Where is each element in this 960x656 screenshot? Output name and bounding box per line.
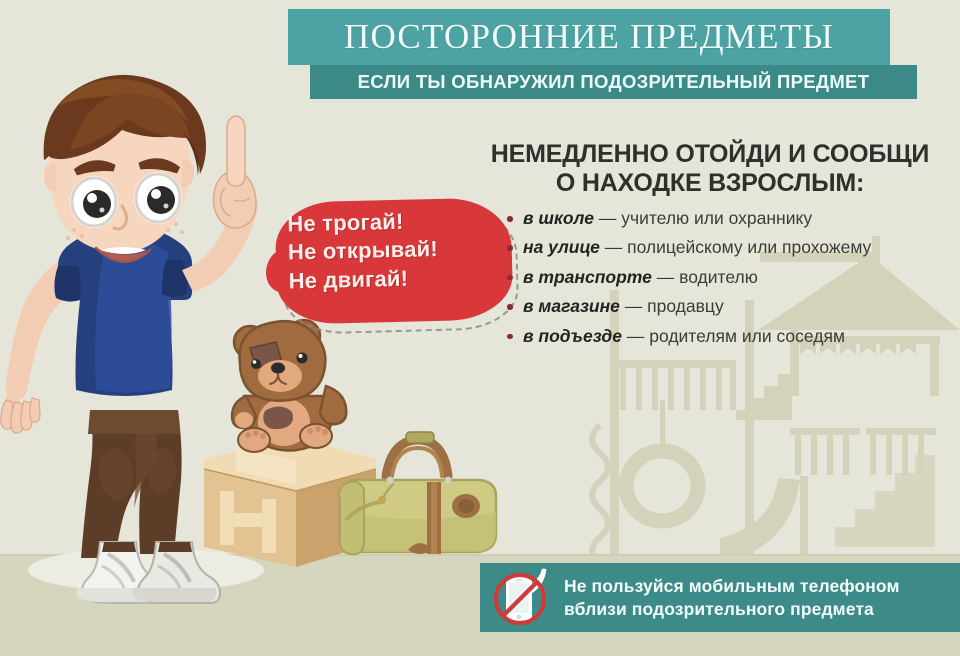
poster-title: ПОСТОРОННИЕ ПРЕДМЕТЫ: [288, 9, 890, 65]
advice-who: полицейскому или прохожему: [627, 237, 871, 257]
advice-term: в школе: [523, 208, 594, 228]
advice-term: в подъезде: [523, 326, 622, 346]
no-mobile-phone-icon: [488, 567, 564, 629]
warning-speech-bubble: Не трогай! Не открывай! Не двигай!: [276, 194, 526, 339]
list-item: на улице — полицейскому или прохожему: [505, 237, 955, 259]
bubble-line-3: Не двигай!: [288, 262, 505, 295]
advice-who: учителю или охраннику: [621, 208, 812, 228]
advice-dash: —: [627, 326, 645, 346]
advice-dash: —: [657, 267, 675, 287]
advice-dash: —: [625, 296, 643, 316]
list-item: в подъезде — родителям или соседям: [505, 326, 955, 348]
advice-dash: —: [605, 237, 623, 257]
banner-text: Не пользуйся мобильным телефоном вблизи …: [564, 575, 900, 620]
bullet-icon: [507, 334, 513, 340]
subtitle-band: ЕСЛИ ТЫ ОБНАРУЖИЛ ПОДОЗРИТЕЛЬНЫЙ ПРЕДМЕТ: [310, 65, 917, 99]
bullet-icon: [507, 304, 513, 310]
advice-list: в школе — учителю или охраннику на улице…: [505, 208, 955, 355]
bullet-icon: [507, 216, 513, 222]
advice-dash: —: [599, 208, 617, 228]
advice-term: на улице: [523, 237, 600, 257]
suspicious-duffel-bag-illustration: [330, 424, 505, 564]
banner-line-2: вблизи подозрительного предмета: [564, 598, 900, 620]
bubble-text: Не трогай! Не открывай! Не двигай!: [287, 206, 505, 296]
instruction-headline: НЕМЕДЛЕННО ОТОЙДИ И СООБЩИ О НАХОДКЕ ВЗР…: [470, 140, 950, 198]
poster-root: ПОСТОРОННИЕ ПРЕДМЕТЫ ЕСЛИ ТЫ ОБНАРУЖИЛ П…: [0, 0, 960, 656]
title-band: ПОСТОРОННИЕ ПРЕДМЕТЫ: [288, 9, 890, 65]
list-item: в магазине — продавцу: [505, 296, 955, 318]
bullet-icon: [507, 245, 513, 251]
bullet-icon: [507, 275, 513, 281]
poster-subtitle: ЕСЛИ ТЫ ОБНАРУЖИЛ ПОДОЗРИТЕЛЬНЫЙ ПРЕДМЕТ: [310, 65, 917, 99]
list-item: в школе — учителю или охраннику: [505, 208, 955, 230]
advice-term: в магазине: [523, 296, 620, 316]
banner-line-1: Не пользуйся мобильным телефоном: [564, 575, 900, 597]
headline-line-1: НЕМЕДЛЕННО ОТОЙДИ И СООБЩИ: [491, 140, 929, 168]
advice-who: родителям или соседям: [649, 326, 845, 346]
headline-line-2: О НАХОДКЕ ВЗРОСЛЫМ:: [470, 169, 950, 198]
list-item: в транспорте — водителю: [505, 267, 955, 289]
advice-who: продавцу: [647, 296, 724, 316]
boy-pointing-hand: [214, 116, 256, 228]
advice-term: в транспорте: [523, 267, 652, 287]
mobile-phone-warning-banner: Не пользуйся мобильным телефоном вблизи …: [480, 563, 960, 632]
advice-who: водителю: [679, 267, 758, 287]
